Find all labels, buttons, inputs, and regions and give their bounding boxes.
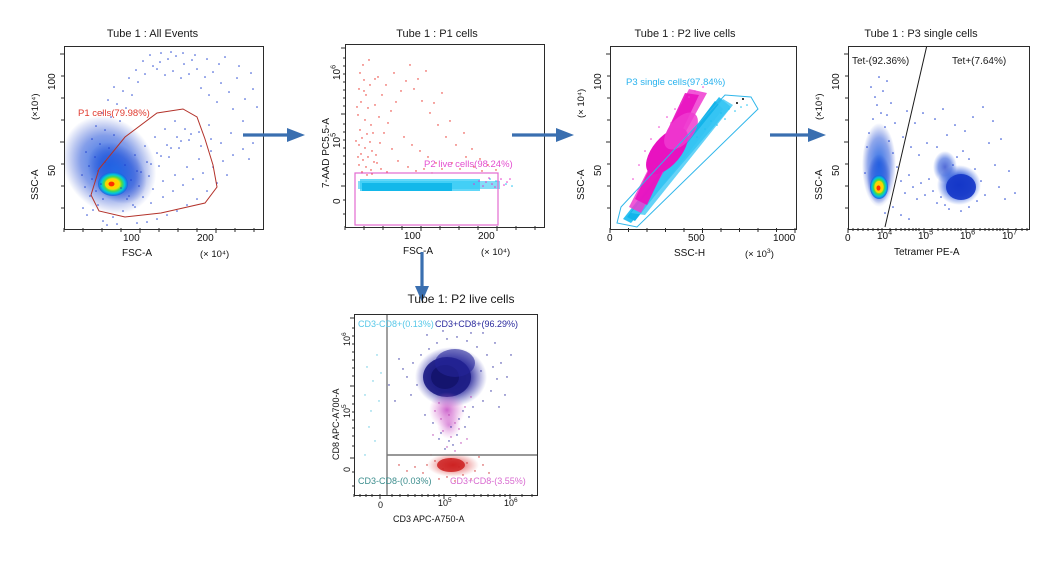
panel3-gate-label-p3: P3 single cells(97.84%): [626, 77, 725, 88]
panel2-live-cells: [358, 178, 513, 191]
panel1-x-axis-label: FSC-A: [122, 248, 152, 259]
panel4-tet-positive-cluster: [933, 151, 981, 205]
panel4-y-axis-label: SSC-A: [814, 169, 825, 200]
panel4-x-axis-label: Tetramer PE-A: [894, 247, 960, 258]
panel2-title: Tube 1 : P1 cells: [322, 28, 552, 40]
panel5-quadrant-label-lower-right: CD3+CD8-(3.55%): [450, 476, 526, 486]
panel1-x-axis-multiplier: (× 10⁴): [200, 249, 229, 260]
panel4-y-tickmarks: [841, 46, 849, 230]
panel-cd3-cd8: Tube 1: P2 live cells CD8 APC-A700-A 106…: [330, 292, 592, 542]
panel5-title: Tube 1: P2 live cells: [330, 292, 592, 306]
panel5-cd3pos-cd8neg-cluster: [427, 453, 479, 477]
panel2-gate-label-p2: P2 live cells(98.24%): [424, 159, 513, 170]
panel5-scatter-canvas: [355, 315, 537, 495]
panel4-gate-label-tet-positive: Tet+(7.64%): [952, 56, 1006, 67]
panel-p2-live-cells: Tube 1 : P2 live cells SSC-A (× 10⁴) 100…: [560, 28, 810, 263]
panel1-y-axis-multiplier: (×10⁴): [30, 93, 41, 120]
panel5-quadrant-label-lower-left: CD3-CD8-(0.03%): [358, 476, 432, 486]
panel4-gate-label-tet-negative: Tet-(92.36%): [852, 56, 909, 67]
panel5-quadrant-label-upper-right: CD3+CD8+(96.29%): [435, 319, 518, 329]
panel3-plot-area: [610, 46, 797, 230]
panel5-plot-area: [354, 314, 538, 496]
arrow-p1-to-p2: [243, 127, 305, 143]
panel4-y-axis-multiplier: (×10⁴): [814, 93, 825, 120]
panel5-y-tickmarks: [347, 314, 355, 496]
panel-p1-cells: Tube 1 : P1 cells 7-AAD PC5.5-A 106 105 …: [312, 28, 552, 263]
panel4-plot-area: [848, 46, 1030, 230]
panel5-x-tickmarks: [354, 494, 538, 502]
panel1-y-tickmarks: [57, 46, 65, 230]
panel5-events-cyan: [364, 354, 381, 455]
panel2-x-tickmarks: [345, 226, 545, 234]
panel3-title: Tube 1 : P2 live cells: [560, 28, 810, 40]
panel4-tet-negative-cluster: [862, 123, 896, 207]
panel1-gate-label-p1: P1 cells(79.98%): [78, 108, 150, 119]
panel1-title: Tube 1 : All Events: [20, 28, 285, 40]
panel3-y-tickmarks: [603, 46, 611, 230]
panel2-x-axis-multiplier: (× 10⁴): [481, 247, 510, 258]
panel-p3-single-cells: Tube 1 : P3 single cells SSC-A (×10⁴) 10…: [800, 28, 1038, 263]
panel1-y-axis-label: SSC-A: [30, 169, 41, 200]
panel3-y-axis-multiplier: (× 10⁴): [576, 89, 587, 118]
panel1-scatter-canvas: [65, 47, 263, 229]
panel3-x-axis-multiplier: (× 103): [745, 249, 774, 260]
panel4-scatter-canvas: [849, 47, 1029, 229]
panel3-scatter-canvas: [611, 47, 796, 229]
panel5-transition-cluster: [429, 392, 465, 439]
panel3-x-tickmarks: [610, 228, 800, 236]
panel4-title: Tube 1 : P3 single cells: [804, 28, 1038, 40]
panel4-x-tickmarks: [848, 228, 1030, 236]
panel1-plot-area: [64, 46, 264, 230]
panel5-x-axis-label: CD3 APC-A750-A: [393, 514, 465, 524]
panel3-x-axis-label: SSC-H: [674, 248, 705, 259]
panel2-y-axis-label: 7-AAD PC5.5-A: [321, 118, 332, 188]
flow-cytometry-gating-figure: { "figure": { "title": "Flow cytometry g…: [0, 0, 1039, 562]
panel1-x-tickmarks: [64, 228, 264, 236]
panel5-quadrant-label-upper-left: CD3-CD8+(0.13%): [358, 319, 434, 329]
panel2-y-tickmarks: [338, 44, 346, 228]
panel-all-events: Tube 1 : All Events SSC-A (×10⁴) 100 50: [20, 28, 285, 263]
panel3-y-axis-label: SSC-A: [576, 169, 587, 200]
panel5-y-axis-label: CD8 APC-A700-A: [331, 388, 341, 460]
